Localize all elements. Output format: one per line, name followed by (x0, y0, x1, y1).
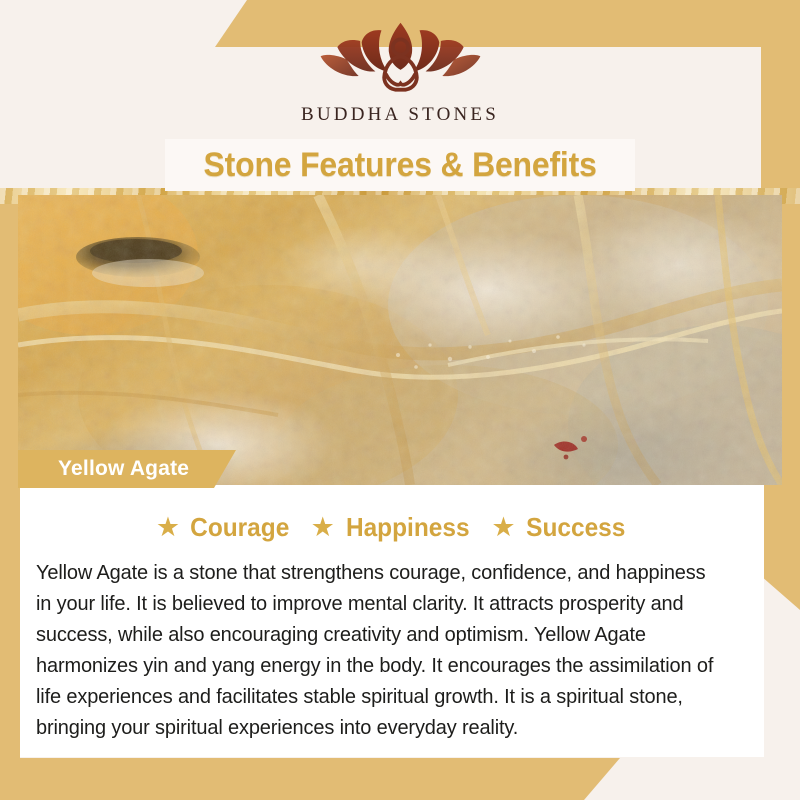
benefit-item-happiness: ★ Happiness (311, 512, 474, 543)
poster-root: BUDDHA STONES Stone Features & Benefits (0, 0, 800, 800)
stone-image (18, 195, 782, 485)
gold-frame-left (0, 190, 20, 800)
benefit-item-success: ★ Success (491, 512, 628, 543)
brand-header: BUDDHA STONES (0, 0, 800, 148)
description-text: Yellow Agate is a stone that strengthens… (36, 557, 724, 743)
description-panel: ★ Courage ★ Happiness ★ Success Yellow A… (20, 485, 764, 757)
star-icon: ★ (491, 514, 515, 541)
gold-frame-bottom (0, 758, 620, 800)
benefit-item-courage: ★ Courage (156, 512, 293, 543)
stone-name-badge: Yellow Agate (18, 450, 236, 488)
page-title: Stone Features & Benefits (203, 146, 596, 185)
benefit-label: Success (526, 512, 625, 543)
stone-name-label: Yellow Agate (58, 457, 189, 481)
lotus-meditation-figure-icon (313, 18, 488, 102)
benefit-label: Happiness (346, 512, 470, 543)
stone-texture-graphic (18, 195, 782, 485)
star-icon: ★ (311, 514, 335, 541)
star-icon: ★ (156, 514, 180, 541)
title-banner: Stone Features & Benefits (165, 139, 635, 191)
brand-name: BUDDHA STONES (301, 104, 499, 126)
benefit-label: Courage (190, 512, 289, 543)
benefits-row: ★ Courage ★ Happiness ★ Success (20, 485, 764, 543)
